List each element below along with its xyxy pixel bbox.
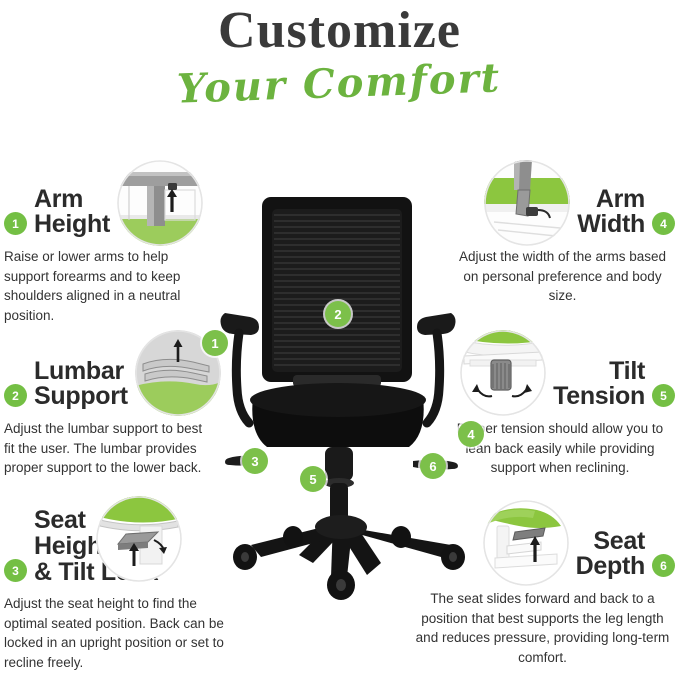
heading-line-2: Height xyxy=(34,212,110,238)
heading-line-2: Tension xyxy=(553,384,645,410)
heading-line-2: Support xyxy=(34,384,128,410)
seat-depth-illustration-icon xyxy=(483,500,569,586)
heading-line-2: Width xyxy=(577,212,645,238)
seat-height-tilt-lock-illustration-icon xyxy=(96,496,182,582)
office-chair-illustration: 1 2 3 4 5 6 xyxy=(205,185,495,610)
heading-line-1: Arm xyxy=(577,187,645,213)
title-script: Your Comfort xyxy=(177,53,503,114)
heading-line-1: Arm xyxy=(34,187,110,213)
arm-width-illustration-icon xyxy=(484,160,570,246)
section-badge-5: 5 xyxy=(652,384,675,407)
chair-callout-6: 6 xyxy=(420,453,446,479)
section-heading: Arm Width xyxy=(577,187,645,239)
title-main: Customize xyxy=(0,4,679,57)
section-heading: Tilt Tension xyxy=(553,359,645,411)
chair-callout-2: 2 xyxy=(325,301,351,327)
page-title: Customize Your Comfort xyxy=(0,4,679,109)
section-header: 2 Lumbar Support xyxy=(4,330,229,410)
chair-callout-5: 5 xyxy=(300,466,326,492)
section-body: Adjust the lumbar support to best fit th… xyxy=(4,419,204,478)
heading-line-1: Lumbar xyxy=(34,359,128,385)
heading-line-1: Seat xyxy=(576,529,645,555)
section-badge-2: 2 xyxy=(4,384,27,407)
chair-callout-1: 1 xyxy=(202,330,228,356)
arm-height-illustration-icon xyxy=(117,160,203,246)
section-badge-1: 1 xyxy=(4,212,27,235)
infographic-page: Customize Your Comfort 1 Arm Height xyxy=(0,0,679,689)
section-badge-6: 6 xyxy=(652,554,675,577)
section-badge-3: 3 xyxy=(4,559,27,582)
section-lumbar-support: 2 Lumbar Support xyxy=(4,330,229,478)
section-badge-4: 4 xyxy=(652,212,675,235)
heading-line-1: Tilt xyxy=(553,359,645,385)
section-heading: Lumbar Support xyxy=(34,359,128,411)
section-header: 1 Arm Height xyxy=(4,160,229,238)
heading-line-2: Depth xyxy=(576,554,645,580)
section-body: Raise or lower arms to help support fore… xyxy=(4,247,209,325)
section-heading: Arm Height xyxy=(34,187,110,239)
section-heading: Seat Depth xyxy=(576,529,645,581)
chair-callout-3: 3 xyxy=(242,448,268,474)
section-arm-height: 1 Arm Height xyxy=(4,160,229,325)
chair-callout-4: 4 xyxy=(458,421,484,447)
